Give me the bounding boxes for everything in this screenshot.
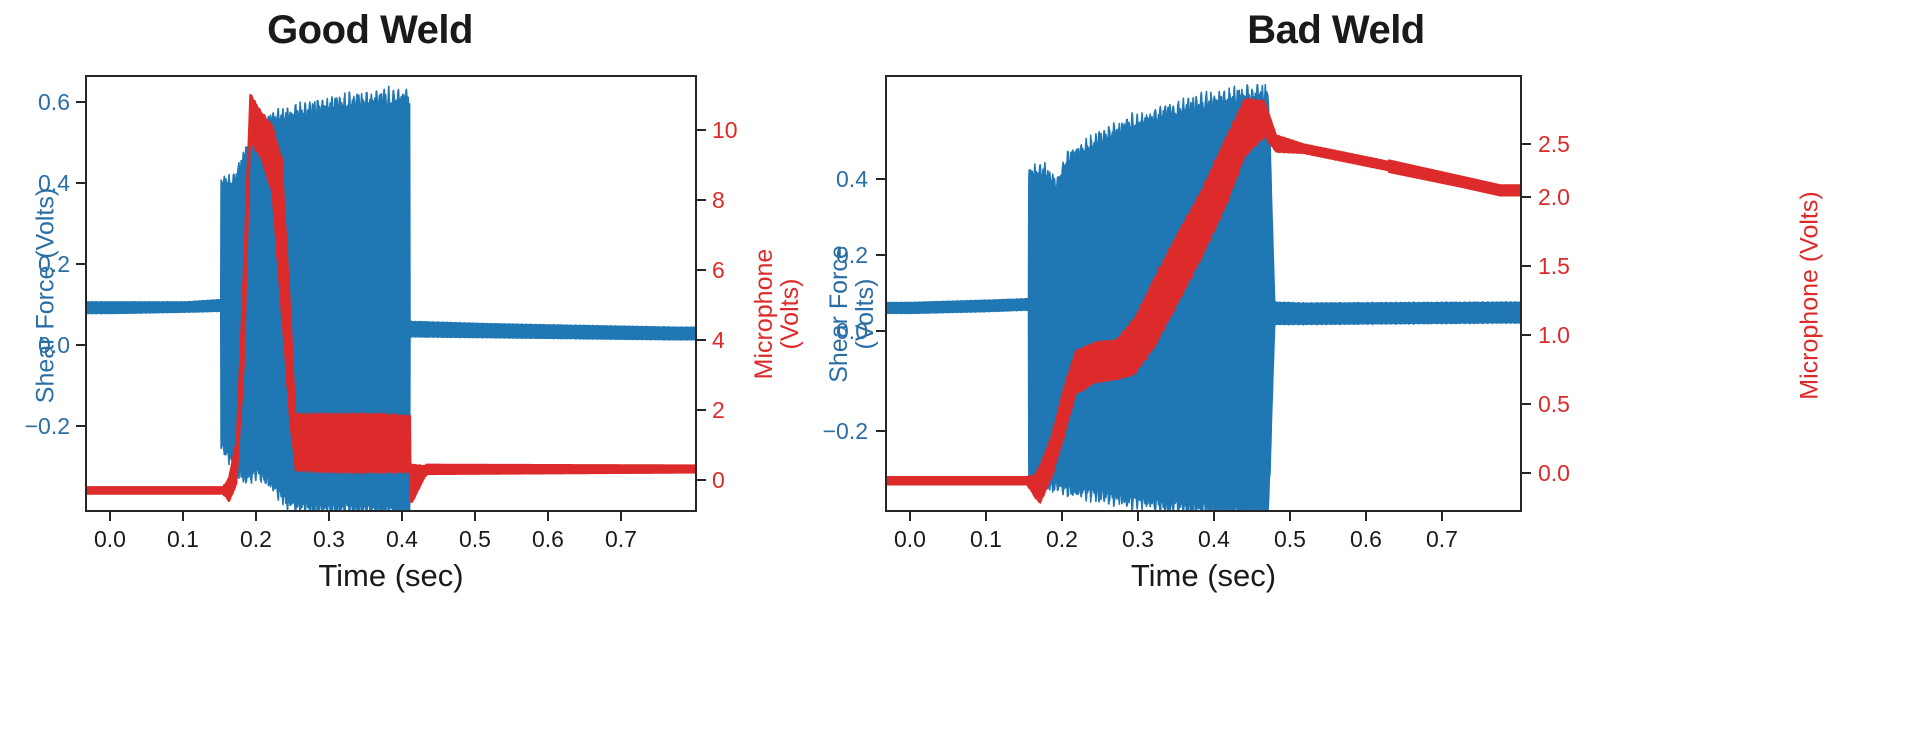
ticklabel-x-7: 0.7: [1402, 526, 1482, 553]
tick-right-y-3: [1522, 334, 1531, 336]
plot-area-bad-weld: [885, 75, 1522, 512]
tick-right-y-2: [1522, 265, 1531, 267]
y-axis-label-microphone-line1: Microphone: [750, 249, 778, 380]
ticklabel-x-2: 0.2: [216, 526, 296, 553]
tick-x-3: [328, 512, 330, 521]
ticklabel-right-y-1: 2.0: [1538, 184, 1570, 211]
tick-x-7: [1441, 512, 1443, 521]
y-axis-label-shear-force-line2: (Volts): [851, 279, 879, 350]
tick-x-2: [1061, 512, 1063, 521]
x-axis-label-time: Time (sec): [885, 558, 1522, 594]
tick-x-5: [474, 512, 476, 521]
ticklabel-x-5: 0.5: [1250, 526, 1330, 553]
ticklabel-x-0: 0.0: [70, 526, 150, 553]
panel-title-good-weld: Good Weld: [0, 8, 800, 53]
y-axis-label-shear-force: Shear Force (Volts): [826, 204, 878, 424]
plot-area-good-weld: [85, 75, 697, 512]
ticklabel-x-4: 0.4: [1174, 526, 1254, 553]
ticklabel-right-y-2: 6: [712, 257, 725, 284]
tick-right-y-0: [1522, 143, 1531, 145]
tick-left-y-0: [876, 178, 885, 180]
trace-shear-force: [887, 85, 1520, 510]
ticklabel-x-6: 0.6: [1326, 526, 1406, 553]
tick-right-y-5: [1522, 472, 1531, 474]
weld-signal-figure: Good Weld 0.6 0.4 0.2 0.0 −0.2 10 8 6 4 …: [0, 0, 1920, 741]
panel-good-weld: Good Weld 0.6 0.4 0.2 0.0 −0.2 10 8 6 4 …: [0, 0, 860, 741]
tick-x-6: [1365, 512, 1367, 521]
tick-right-y-0: [697, 129, 706, 131]
tick-right-y-1: [1522, 196, 1531, 198]
ticklabel-right-y-0: 10: [712, 117, 738, 144]
tick-right-y-5: [697, 479, 706, 481]
y-axis-label-shear-force-line1: Shear Force: [825, 245, 853, 383]
signal-traces-bad-weld: [887, 77, 1520, 510]
ticklabel-x-6: 0.6: [508, 526, 588, 553]
tick-left-y-3: [76, 344, 85, 346]
tick-x-1: [182, 512, 184, 521]
ticklabel-x-4: 0.4: [362, 526, 442, 553]
x-axis-label-time: Time (sec): [85, 558, 697, 594]
panel-title-bad-weld: Bad Weld: [806, 8, 1866, 53]
tick-right-y-1: [697, 199, 706, 201]
tick-x-4: [401, 512, 403, 521]
ticklabel-right-y-5: 0.0: [1538, 460, 1570, 487]
panel-bad-weld: Bad Weld 0.4 0.2 0.0 −0.2 2.5 2.0 1.5 1.…: [860, 0, 1920, 741]
tick-x-4: [1213, 512, 1215, 521]
ticklabel-right-y-4: 0.5: [1538, 391, 1570, 418]
ticklabel-left-y-0: 0.6: [0, 89, 70, 116]
ticklabel-x-5: 0.5: [435, 526, 515, 553]
tick-right-y-4: [1522, 403, 1531, 405]
signal-traces-good-weld: [87, 77, 695, 510]
tick-right-y-4: [697, 409, 706, 411]
tick-x-2: [255, 512, 257, 521]
tick-right-y-3: [697, 339, 706, 341]
ticklabel-right-y-0: 2.5: [1538, 131, 1570, 158]
tick-x-7: [620, 512, 622, 521]
y-axis-label-microphone: Microphone (Volts): [751, 204, 803, 424]
ticklabel-x-1: 0.1: [946, 526, 1026, 553]
y-axis-label-shear-force: Shear Force (Volts): [32, 166, 61, 426]
ticklabel-right-y-3: 1.0: [1538, 322, 1570, 349]
tick-x-3: [1137, 512, 1139, 521]
ticklabel-x-3: 0.3: [1098, 526, 1178, 553]
tick-x-6: [547, 512, 549, 521]
y-axis-label-microphone: Microphone (Volts): [1796, 166, 1825, 426]
ticklabel-x-7: 0.7: [581, 526, 661, 553]
tick-left-y-3: [876, 430, 885, 432]
tick-left-y-1: [76, 182, 85, 184]
tick-left-y-4: [76, 425, 85, 427]
ticklabel-right-y-4: 2: [712, 397, 725, 424]
tick-left-y-0: [76, 101, 85, 103]
tick-x-1: [985, 512, 987, 521]
tick-left-y-2: [76, 263, 85, 265]
ticklabel-x-2: 0.2: [1022, 526, 1102, 553]
ticklabel-right-y-1: 8: [712, 187, 725, 214]
tick-x-0: [909, 512, 911, 521]
ticklabel-x-1: 0.1: [143, 526, 223, 553]
tick-x-5: [1289, 512, 1291, 521]
tick-right-y-2: [697, 269, 706, 271]
ticklabel-x-0: 0.0: [870, 526, 950, 553]
ticklabel-right-y-2: 1.5: [1538, 253, 1570, 280]
ticklabel-right-y-3: 4: [712, 327, 725, 354]
ticklabel-right-y-5: 0: [712, 467, 725, 494]
ticklabel-left-y-0: 0.4: [798, 166, 868, 193]
tick-x-0: [109, 512, 111, 521]
ticklabel-x-3: 0.3: [289, 526, 369, 553]
